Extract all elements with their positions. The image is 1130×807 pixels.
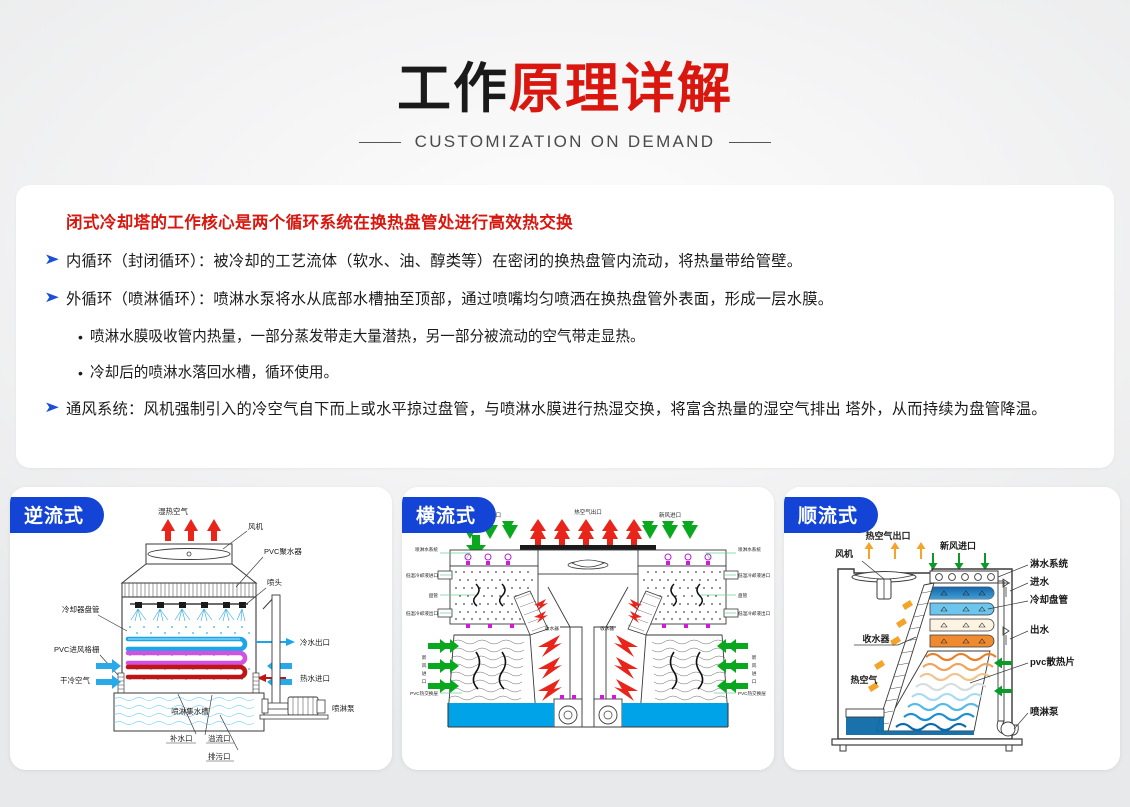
page-title: 工作原理详解 bbox=[0, 62, 1130, 116]
label-spray-water-basin: 喷淋集水槽 bbox=[171, 706, 209, 716]
label-hot-air-outlet: 热空气出口 bbox=[574, 508, 602, 516]
dot-icon: • bbox=[78, 325, 90, 349]
label-hot-air: 热空气 bbox=[850, 674, 877, 685]
label-coolant-outlet-left: 低温冷却液出口 bbox=[406, 610, 439, 617]
label-pvc-air-inlet-louver: PVC进风格栅 bbox=[54, 644, 100, 654]
bullet-item-inner-loop: ➤ 内循环（封闭循环）：被冷却的工艺流体（软水、油、醇类等）在密闭的换热盘管内流… bbox=[44, 249, 1086, 274]
sub-bullet-item-recirculation: • 冷却后的喷淋水落回水槽，循环使用。 bbox=[78, 361, 1086, 385]
bullet-item-outer-loop: ➤ 外循环（喷淋循环）：喷淋水泵将水从底部水槽抽至顶部，通过喷嘴均匀喷洒在换热盘… bbox=[44, 287, 1086, 312]
label-fresh-air-inlet-top-right: 新风进口 bbox=[659, 511, 681, 519]
subtitle-row: CUSTOMIZATION ON DEMAND bbox=[0, 132, 1130, 152]
label-moist-hot-air: 湿热空气 bbox=[158, 506, 188, 516]
label-water-outlet: 出水 bbox=[1030, 624, 1050, 636]
label-fresh-air-inlet-side-left-3: 进 bbox=[422, 670, 427, 677]
label-spray-water-system-right: 喷淋水系统 bbox=[738, 546, 761, 553]
chevron-right-icon: ➤ bbox=[44, 249, 72, 270]
label-cooling-coil: 冷却盘管 bbox=[1030, 594, 1069, 606]
label-nozzle: 喷头 bbox=[267, 577, 282, 587]
label-pvc-fin: pvc散热片 bbox=[1030, 656, 1075, 668]
label-coil-left: 盘管 bbox=[429, 592, 439, 599]
dot-icon: • bbox=[78, 361, 90, 385]
label-cooler-coil: 冷却器盘管 bbox=[62, 604, 100, 614]
subtitle-rule-left bbox=[359, 142, 401, 143]
subtitle-rule-right bbox=[729, 142, 771, 143]
bullet-text: 外循环（喷淋循环）：喷淋水泵将水从底部水槽抽至顶部，通过喷嘴均匀喷洒在换热盘管外… bbox=[66, 287, 833, 312]
label-drift-eliminator-left: 收水器 bbox=[545, 625, 559, 632]
bullet-text: 内循环（封闭循环）：被冷却的工艺流体（软水、油、醇类等）在密闭的换热盘管内流动，… bbox=[66, 249, 802, 274]
label-spray-water-system: 淋水系统 bbox=[1030, 558, 1069, 570]
panel-heading: 闭式冷却塔的工作核心是两个循环系统在换热盘管处进行高效热交换 bbox=[66, 209, 1086, 233]
bullet-text-block: 通风系统：风机强制引入的冷空气自下而上或水平掠过盘管，与喷淋水膜进行热湿交换，将… bbox=[66, 397, 1047, 422]
label-dry-cold-air: 干冷空气 bbox=[60, 675, 90, 685]
label-hot-air-outlet: 热空气出口 bbox=[865, 530, 910, 541]
page-root: 工作原理详解 CUSTOMIZATION ON DEMAND 闭式冷却塔的工作核… bbox=[0, 0, 1130, 807]
sub-bullet-text: 喷淋水膜吸收管内热量，一部分蒸发带走大量潜热，另一部分被流动的空气带走显热。 bbox=[90, 325, 645, 349]
label-pvc-heat-exchange-left: PVC热交换层 bbox=[410, 690, 438, 697]
label-makeup-port: 补水口 bbox=[170, 733, 193, 743]
label-hot-water-inlet: 热水进口 bbox=[300, 673, 330, 683]
label-fresh-air-inlet-side-left: 新 bbox=[422, 654, 427, 661]
diagram-card-row: 逆流式 湿热空气 风机 HUATAI 华泰冷却 bbox=[10, 487, 1120, 787]
label-cold-water-outlet: 冷水出口 bbox=[300, 637, 330, 647]
description-panel: 闭式冷却塔的工作核心是两个循环系统在换热盘管处进行高效热交换 ➤ 内循环（封闭循… bbox=[16, 185, 1114, 468]
label-fresh-air-inlet-side-right: 新 bbox=[752, 654, 757, 661]
label-spray-pump: 喷淋泵 bbox=[332, 703, 355, 713]
label-coolant-inlet-left: 低温冷却液进口 bbox=[406, 572, 439, 579]
label-coil-right: 盘管 bbox=[738, 592, 748, 599]
diagram-card-counterflow[interactable]: 逆流式 湿热空气 风机 HUATAI 华泰冷却 bbox=[10, 487, 392, 770]
label-water-inlet: 进水 bbox=[1030, 576, 1050, 588]
title-black-part: 工作 bbox=[397, 59, 509, 119]
label-spray-pump: 喷淋泵 bbox=[1030, 706, 1059, 718]
bullet-text-line1: 通风系统：风机强制引入的冷空气自下而上或水平掠过盘管，与喷淋水膜进行热湿交换，将… bbox=[66, 401, 841, 418]
diagram-card-parallelflow[interactable]: 顺流式 热空气出口 新风进口 风机 bbox=[784, 487, 1120, 770]
label-spray-water-system-left: 喷淋水系统 bbox=[415, 546, 438, 553]
title-red-part: 原理详解 bbox=[509, 59, 733, 119]
label-drain-port: 排污口 bbox=[208, 751, 231, 761]
diagram-card-crossflow[interactable]: 横流式 新风进口 新风进口 bbox=[402, 487, 774, 770]
label-drift-eliminator: 收水器 bbox=[862, 633, 890, 644]
label-coolant-outlet-right: 低温冷却液出口 bbox=[738, 610, 771, 617]
card-badge-counterflow: 逆流式 bbox=[10, 497, 104, 533]
card-badge-parallelflow: 顺流式 bbox=[784, 497, 878, 533]
sub-bullet-text: 冷却后的喷淋水落回水槽，循环使用。 bbox=[90, 361, 338, 385]
label-pvc-drift-eliminator: PVC聚水器 bbox=[264, 546, 302, 556]
page-subtitle: CUSTOMIZATION ON DEMAND bbox=[415, 132, 716, 152]
card-badge-crossflow: 横流式 bbox=[402, 497, 496, 533]
label-fan: 风机 bbox=[835, 548, 853, 559]
label-fresh-air-inlet: 新风进口 bbox=[940, 540, 976, 551]
page-header: 工作原理详解 CUSTOMIZATION ON DEMAND bbox=[0, 0, 1130, 152]
label-fan: 风机 bbox=[248, 521, 263, 531]
label-fresh-air-inlet-side-right-3: 进 bbox=[752, 670, 757, 677]
bullet-item-ventilation: ➤ 通风系统：风机强制引入的冷空气自下而上或水平掠过盘管，与喷淋水膜进行热湿交换… bbox=[44, 397, 1086, 422]
bullet-text-line2: 塔外，从而持续为盘管降温。 bbox=[845, 401, 1046, 418]
sub-bullet-item-latent-heat: • 喷淋水膜吸收管内热量，一部分蒸发带走大量潜热，另一部分被流动的空气带走显热。 bbox=[78, 325, 1086, 349]
chevron-right-icon: ➤ bbox=[44, 287, 72, 308]
label-coolant-inlet-right: 低温冷却液进口 bbox=[738, 572, 771, 579]
label-pvc-heat-exchange-right: PVC热交换层 bbox=[738, 690, 766, 697]
chevron-right-icon: ➤ bbox=[44, 397, 72, 418]
label-overflow-port: 溢流口 bbox=[208, 733, 231, 743]
label-drift-eliminator-right: 收水器 bbox=[600, 625, 614, 632]
